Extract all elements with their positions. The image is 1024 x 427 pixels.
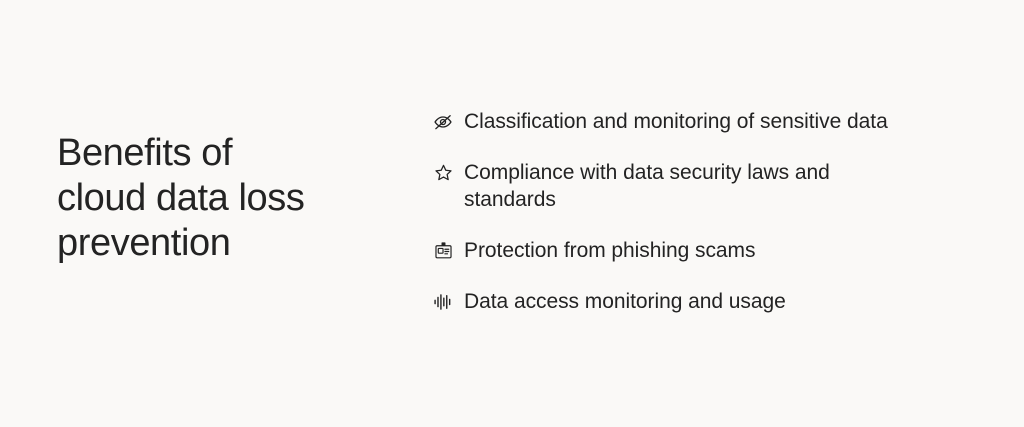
benefits-list: Classification and monitoring of sensiti… [432,108,902,315]
list-item-label: Data access monitoring and usage [464,288,902,315]
slide-root: Benefits of cloud data loss prevention C… [0,0,1024,427]
id-badge-icon [432,237,454,264]
list-item: Compliance with data security laws and s… [432,159,902,213]
star-outline-icon [432,159,454,186]
waveform-icon [432,288,454,315]
eye-off-icon [432,108,454,135]
list-item-label: Classification and monitoring of sensiti… [464,108,902,135]
list-item: Data access monitoring and usage [432,288,902,315]
list-item: Protection from phishing scams [432,237,902,264]
page-title: Benefits of cloud data loss prevention [57,131,387,266]
list-item: Classification and monitoring of sensiti… [432,108,902,135]
list-item-label: Protection from phishing scams [464,237,902,264]
list-item-label: Compliance with data security laws and s… [464,159,902,213]
